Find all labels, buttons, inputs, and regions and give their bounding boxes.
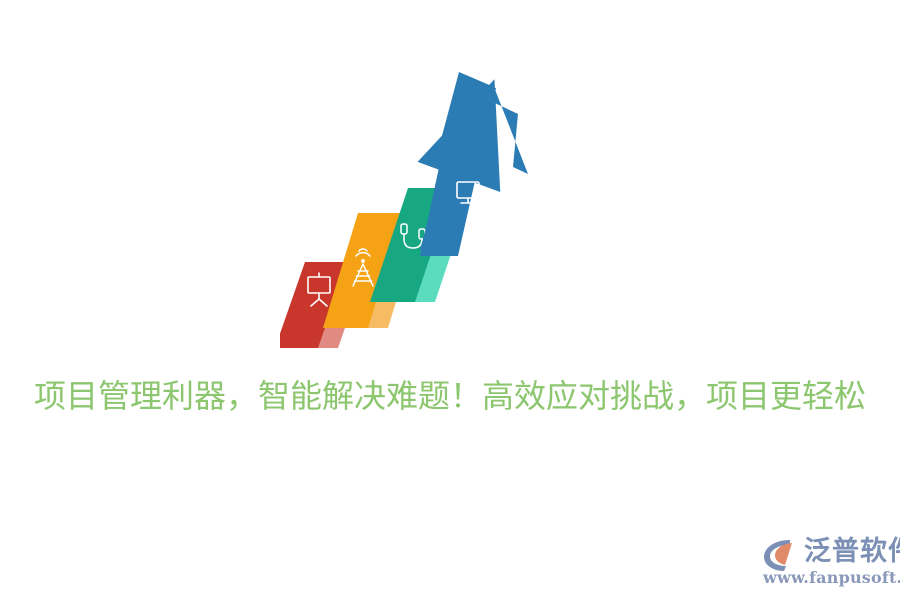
fanpu-c-arc-logo-icon	[762, 538, 802, 572]
brand-name: 泛普软件	[804, 536, 900, 568]
headline-text: 项目管理利器，智能解决难题！高效应对挑战，项目更轻松	[0, 374, 900, 418]
page-canvas: 项目管理利器，智能解决难题！高效应对挑战，项目更轻松 泛普软件 www.fanp…	[0, 0, 900, 600]
hero-graphic	[280, 70, 550, 360]
step-4-group	[418, 70, 536, 256]
brand-url: www.fanpusoft.com	[763, 568, 900, 588]
brand-logo[interactable]: 泛普软件 www.fanpusoft.com	[762, 536, 896, 590]
